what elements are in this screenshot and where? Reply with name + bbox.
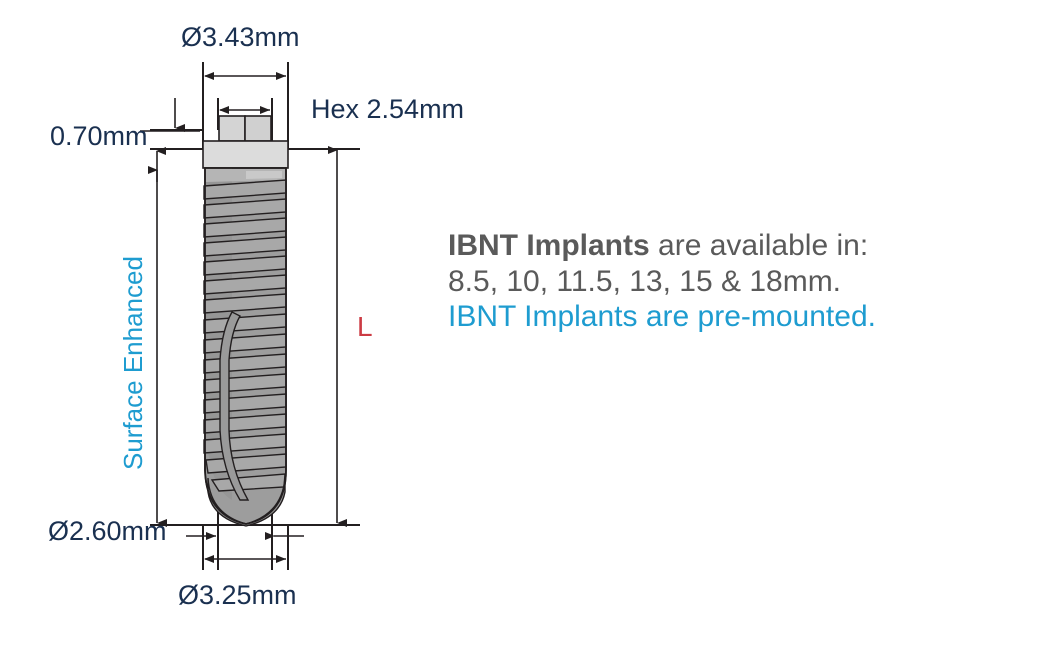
label-thread-diameter: Ø3.25mm [178, 582, 297, 609]
implant-diagram: Ø3.43mm Hex 2.54mm 0.70mm Surface Enhanc… [0, 0, 1056, 647]
label-collar-height: 0.70mm [50, 123, 148, 150]
info-line-3: IBNT Implants are pre-mounted. [448, 299, 1008, 335]
info-line-1-rest: are available in: [650, 229, 868, 262]
implant-illustration [203, 116, 288, 526]
info-line-2: 8.5, 10, 11.5, 13, 15 & 18mm. [448, 264, 1008, 300]
label-outer-diameter: Ø3.43mm [181, 24, 300, 51]
info-text-block: IBNT Implants are available in: 8.5, 10,… [448, 228, 1008, 335]
info-line-1: IBNT Implants are available in: [448, 228, 1008, 264]
label-length: L [357, 313, 373, 341]
info-line-1-bold: IBNT Implants [448, 229, 650, 262]
label-core-diameter: Ø2.60mm [48, 518, 167, 545]
label-surface-enhanced: Surface Enhanced [120, 256, 146, 470]
label-hex: Hex 2.54mm [311, 96, 464, 123]
